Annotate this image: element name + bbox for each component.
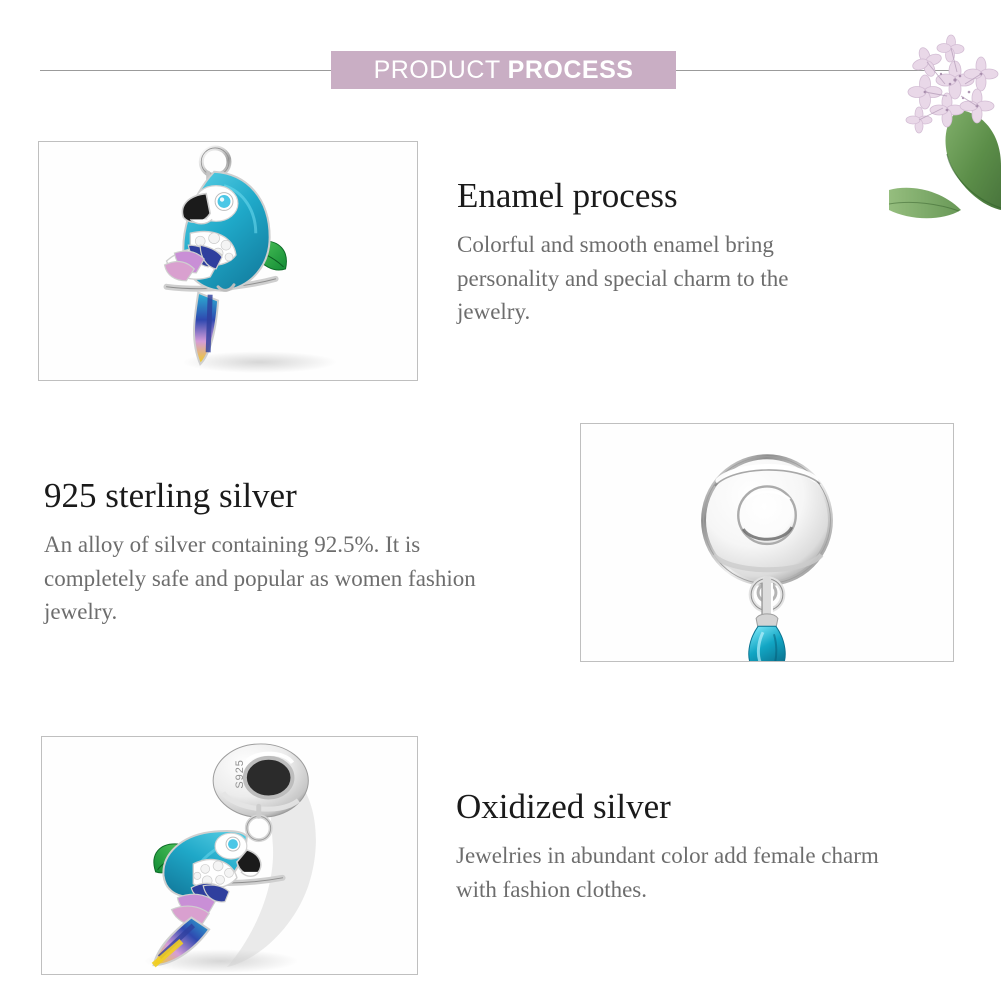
section-heading-sterling: 925 sterling silver: [44, 476, 514, 516]
banner-title-light: PRODUCT: [374, 56, 508, 84]
product-image-frame-sterling: [580, 423, 954, 662]
banner-title-bold: PROCESS: [508, 56, 634, 84]
section-body-sterling: An alloy of silver containing 92.5%. It …: [44, 528, 514, 628]
parrot-enamel-charm-illustration: [39, 142, 417, 380]
product-image-frame-oxidized: S925: [41, 736, 418, 975]
page-title-banner: PRODUCT PROCESS: [331, 51, 676, 89]
banner-title: PRODUCT PROCESS: [374, 58, 634, 83]
section-heading-enamel: Enamel process: [457, 176, 827, 216]
product-image-frame-enamel: [38, 141, 418, 381]
section-body-enamel: Colorful and smooth enamel bring persona…: [457, 228, 827, 328]
section-body-oxidized: Jewelries in abundant color add female c…: [456, 839, 896, 906]
section-text-enamel: Enamel process Colorful and smooth ename…: [457, 176, 827, 328]
product-process-page: PRODUCT PROCESS: [0, 0, 1001, 1001]
lilac-blossom-icon: [889, 14, 1001, 232]
parrot-charm-with-bead-illustration: S925: [42, 737, 417, 974]
section-text-sterling: 925 sterling silver An alloy of silver c…: [44, 476, 514, 628]
bead-marking-text: S925: [234, 759, 246, 788]
section-heading-oxidized: Oxidized silver: [456, 787, 896, 827]
silver-bead-illustration: [581, 424, 953, 661]
section-text-oxidized: Oxidized silver Jewelries in abundant co…: [456, 787, 896, 906]
